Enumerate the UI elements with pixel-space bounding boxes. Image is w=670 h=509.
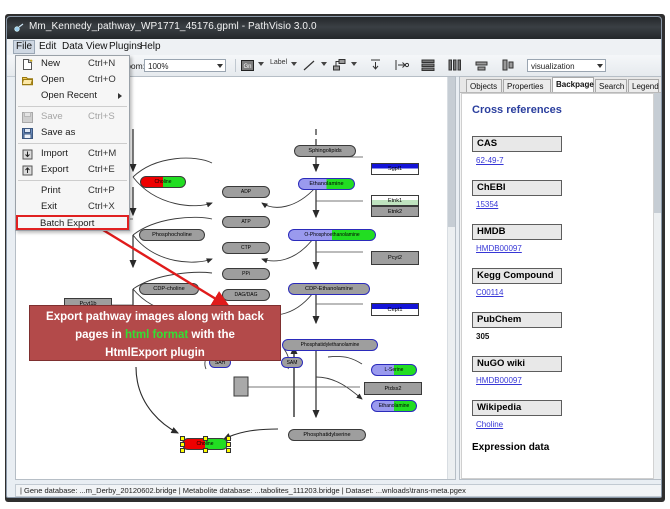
side-panel-scrollbar[interactable] — [653, 93, 661, 479]
zoom-value: 100% — [148, 62, 168, 71]
annotation-line-2-post: with the — [188, 329, 235, 341]
pathway-node-label: SAM — [287, 360, 298, 366]
file-menu-item-export[interactable]: Export Ctrl+E — [16, 162, 129, 178]
pathway-node-label: CDP-Ethanolamine — [305, 286, 353, 292]
title-bar: Mm_Kennedy_pathway_WP1771_45176.gpml - P… — [7, 17, 661, 40]
xref-header-wikipedia: Wikipedia — [472, 400, 562, 416]
pathway-node-sam[interactable]: SAM — [281, 357, 303, 368]
pathway-node-ethanolamine-top[interactable]: Ethanolamine — [298, 178, 355, 190]
expression-data-label: Expression data — [472, 442, 549, 453]
file-menu-item-open-recent[interactable]: Open Recent — [16, 88, 129, 104]
selection-handle[interactable] — [203, 436, 208, 441]
pathway-node-dag-dag[interactable]: DAG/DAG — [222, 289, 270, 301]
distribute-vertical-icon[interactable] — [421, 59, 435, 71]
datanode-icon[interactable]: Gn — [241, 60, 254, 71]
zoom-combo[interactable]: 100% — [144, 59, 226, 72]
file-menu-item-import[interactable]: Import Ctrl+M — [16, 146, 129, 162]
selection-handle[interactable] — [226, 442, 231, 447]
file-menu-item-save-as[interactable]: Save as — [16, 125, 129, 141]
pathvisio-icon — [13, 22, 25, 34]
selection-handle[interactable] — [203, 448, 208, 453]
selection-handle[interactable] — [180, 442, 185, 447]
pathway-gene-etnk1[interactable]: Etnk1 — [371, 195, 419, 206]
file-menu-label: Open — [41, 72, 64, 88]
pathway-gene-ptdss2[interactable]: Ptdss2 — [364, 382, 422, 395]
pathway-node-label: PPi — [242, 271, 250, 277]
menu-edit[interactable]: Edit — [36, 41, 59, 53]
line-dropdown-icon[interactable] — [321, 62, 327, 66]
pathway-gene-sgpl1[interactable]: Sgpl1 — [371, 163, 419, 175]
xref-value-chebi[interactable]: 15354 — [476, 200, 498, 209]
open-folder-icon — [22, 75, 33, 86]
pathway-gene-pcyt2[interactable]: Pcyt2 — [371, 251, 419, 265]
file-menu-accel: Ctrl+O — [88, 72, 116, 88]
tab-backpage[interactable]: Backpage — [552, 77, 594, 92]
xref-value-pubchem: 305 — [476, 332, 489, 341]
pathway-node-choline-top[interactable]: Choline — [140, 176, 186, 188]
pathway-node-label: Sphingolipids — [308, 148, 341, 154]
pathway-node-label: L-Serine — [385, 367, 404, 373]
chevron-down-icon — [597, 64, 603, 68]
xref-header-kegg: Kegg Compound — [472, 268, 562, 284]
xref-header-hmdb: HMDB — [472, 224, 562, 240]
pathway-node-label: DAG/DAG — [234, 292, 257, 298]
pathway-gene-label: Cept1 — [388, 307, 403, 313]
file-menu-accel: Ctrl+E — [88, 162, 115, 178]
xref-value-cas[interactable]: 62-49-7 — [476, 156, 504, 165]
menu-help[interactable]: Help — [137, 41, 164, 53]
pathway-node-label: Phosphatidylserine — [303, 432, 350, 438]
canvas-vscrollbar[interactable] — [447, 77, 455, 479]
pathway-node-sphingolipids[interactable]: Sphingolipids — [294, 145, 356, 157]
selection-handle[interactable] — [226, 436, 231, 441]
pathway-node-phosphatidylserine[interactable]: Phosphatidylserine — [288, 429, 366, 441]
file-menu-item-new[interactable]: New Ctrl+N — [16, 56, 129, 72]
pathway-node-label: Phosphatidylethanolamine — [301, 342, 360, 348]
visualization-combo[interactable]: visualization — [527, 59, 606, 72]
new-file-icon — [22, 59, 33, 70]
pathway-gene-label: Sgpl1 — [388, 166, 402, 172]
pathvisio-window: Mm_Kennedy_pathway_WP1771_45176.gpml - P… — [6, 16, 662, 498]
pathway-gene-label: Ptdss2 — [384, 386, 401, 392]
label-button[interactable]: Label — [270, 59, 287, 66]
pathway-node-label: CTP — [241, 245, 251, 251]
pathway-node-ethanolamine-low[interactable]: Ethanolamine — [371, 400, 417, 412]
cross-references-title: Cross references — [472, 104, 562, 116]
annotation-callout: Export pathway images along with back pa… — [29, 305, 281, 361]
side-panel: Objects Properties Backpage Search Legen… — [459, 76, 662, 480]
chevron-down-icon — [217, 64, 223, 68]
file-menu-accel: Ctrl+P — [88, 183, 115, 199]
pathway-node-atp[interactable]: ATP — [222, 216, 270, 228]
file-menu-label: Import — [41, 146, 68, 162]
menu-file[interactable]: File — [13, 40, 35, 54]
xref-value-wikipedia[interactable]: Choline — [476, 420, 503, 429]
pathway-node-label: ATP — [241, 219, 250, 225]
pathway-node-phosphocholine[interactable]: Phosphocholine — [139, 229, 205, 241]
file-menu-item-batch-export[interactable]: Batch Export — [16, 215, 129, 230]
file-menu-item-save: Save Ctrl+S — [16, 109, 129, 125]
shape-icon[interactable] — [333, 59, 346, 71]
pathway-gene-cept1[interactable]: Cept1 — [371, 303, 419, 316]
pathway-node-label: Choline — [155, 179, 172, 185]
menu-separator — [18, 180, 127, 181]
file-menu-label: Open Recent — [41, 88, 97, 104]
annotation-line-2: pages in html format with the — [30, 326, 280, 344]
xref-value-nugo[interactable]: HMDB00097 — [476, 376, 522, 385]
xref-value-kegg[interactable]: C00114 — [476, 288, 503, 297]
selection-handle[interactable] — [180, 448, 185, 453]
side-panel-scroll-thumb[interactable] — [654, 93, 661, 213]
pathway-node-ctp[interactable]: CTP — [222, 242, 270, 254]
file-menu-label: Exit — [41, 199, 57, 215]
file-menu-label: New — [41, 56, 60, 72]
file-menu-accel: Ctrl+N — [88, 56, 115, 72]
annotation-highlight: html format — [125, 329, 188, 341]
pathway-node-label: Ethanolamine — [379, 403, 410, 409]
menu-bar: File Edit Data View Plugins Help — [7, 39, 661, 56]
save-icon — [22, 112, 33, 123]
file-menu-label: Save as — [41, 125, 75, 141]
line-icon[interactable] — [303, 60, 315, 71]
xref-value-hmdb[interactable]: HMDB00097 — [476, 244, 522, 253]
side-panel-tabs: Objects Properties Backpage Search Legen… — [460, 77, 662, 93]
pathway-node-cdp-choline[interactable]: CDP-choline — [139, 283, 199, 295]
file-menu-label: Batch Export — [40, 217, 94, 230]
same-height-icon[interactable] — [502, 59, 514, 71]
file-menu-label: Print — [41, 183, 61, 199]
pathway-node-l-serine[interactable]: L-Serine — [371, 364, 417, 376]
label-dropdown-icon[interactable] — [291, 62, 297, 66]
status-bar: | Gene database: ...m_Derby_20120602.bri… — [15, 484, 662, 497]
file-menu-accel: Ctrl+X — [88, 199, 115, 215]
pathway-node-label: Ethanolamine — [309, 181, 343, 187]
pathway-node-label: ADP — [241, 189, 251, 195]
file-menu-accel: Ctrl+S — [88, 109, 115, 125]
toolbar-separator — [235, 59, 236, 72]
selection-handle[interactable] — [180, 436, 185, 441]
annotation-line-2-pre: pages in — [75, 329, 125, 341]
xref-header-cas: CAS — [472, 136, 562, 152]
tab-search[interactable]: Search — [595, 79, 627, 92]
annotation-line-1: Export pathway images along with back — [30, 308, 280, 326]
distribute-horizontal-icon[interactable] — [448, 59, 462, 71]
datanode-dropdown-icon[interactable] — [258, 62, 264, 66]
annotation-line-3: HtmlExport plugin — [30, 344, 280, 362]
save-as-icon — [22, 128, 33, 139]
import-icon — [22, 149, 33, 160]
pathway-gene-label: Etnk2 — [388, 209, 402, 215]
file-menu-item-exit[interactable]: Exit Ctrl+X — [16, 199, 129, 215]
file-menu-popup[interactable]: New Ctrl+N Open Ctrl+O Open Recent — [15, 55, 130, 231]
screenshot-root: Mm_Kennedy_pathway_WP1771_45176.gpml - P… — [0, 0, 670, 509]
pathway-node-label: Phosphocholine — [152, 232, 192, 238]
tab-legend[interactable]: Legend — [628, 79, 659, 92]
pathway-node-phosphatidylethanolamine[interactable]: Phosphatidylethanolamine — [282, 339, 378, 351]
align-top-icon[interactable] — [369, 59, 382, 71]
window-title: Mm_Kennedy_pathway_WP1771_45176.gpml - P… — [29, 21, 317, 32]
pathway-gene-etnk2[interactable]: Etnk2 — [371, 206, 419, 217]
xref-header-pubchem: PubChem — [472, 312, 562, 328]
menu-separator — [18, 143, 127, 144]
pathway-node-o-phosphoethanolamine[interactable]: O-Phosphoethanolamine — [288, 229, 376, 241]
align-left-icon[interactable] — [395, 59, 409, 71]
backpage-content: Cross references CAS 62-49-7 ChEBI 15354… — [461, 93, 656, 479]
selection-handle[interactable] — [226, 448, 231, 453]
svg-text:Gn: Gn — [243, 64, 251, 70]
xref-header-nugo: NuGO wiki — [472, 356, 562, 372]
file-menu-item-print[interactable]: Print Ctrl+P — [16, 183, 129, 199]
shape-dropdown-icon[interactable] — [351, 62, 357, 66]
canvas-vscroll-thumb[interactable] — [448, 77, 455, 227]
same-width-icon[interactable] — [475, 60, 489, 71]
file-menu-label: Export — [41, 162, 68, 178]
tab-objects[interactable]: Objects — [466, 79, 502, 92]
pathway-node-label: CDP-choline — [153, 286, 184, 292]
file-menu-label: Save — [41, 109, 63, 125]
pathway-node-adp[interactable]: ADP — [222, 186, 270, 198]
file-menu-accel: Ctrl+M — [88, 146, 116, 162]
file-menu-item-open[interactable]: Open Ctrl+O — [16, 72, 129, 88]
xref-header-chebi: ChEBI — [472, 180, 562, 196]
pathway-node-ppi[interactable]: PPi — [222, 268, 270, 280]
pathway-node-label: Choline — [197, 441, 214, 447]
export-icon — [22, 165, 33, 176]
pathway-gene-label: Pcyt2 — [388, 255, 402, 261]
submenu-arrow-icon — [118, 93, 122, 99]
pathway-node-label: O-Phosphoethanolamine — [304, 232, 359, 238]
visualization-value: visualization — [531, 62, 575, 71]
pathway-gene-label: Etnk1 — [388, 198, 402, 204]
pathway-node-cdp-ethanolamine[interactable]: CDP-Ethanolamine — [288, 283, 370, 295]
menu-separator — [18, 106, 127, 107]
tab-properties[interactable]: Properties — [503, 79, 551, 92]
